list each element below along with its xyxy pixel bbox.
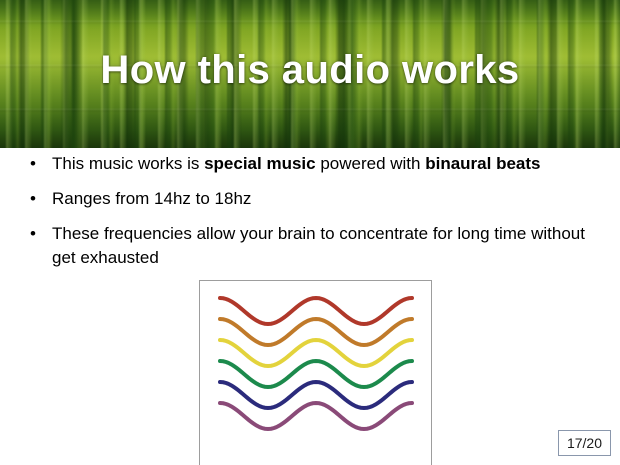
bullet-marker-icon: •: [30, 152, 52, 176]
page-number-badge: 17/20: [558, 430, 611, 456]
bullet-marker-icon: •: [30, 187, 52, 211]
bullet-text: Ranges from 14hz to 18hz: [52, 187, 598, 211]
bullet-item: • This music works is special music powe…: [0, 152, 620, 176]
slide-title: How this audio works: [0, 47, 620, 93]
presentation-slide: How this audio works • This music works …: [0, 0, 620, 465]
bullet-text: This music works is special music powere…: [52, 152, 598, 176]
bullet-text-segment: powered with: [316, 154, 426, 173]
bullet-text: These frequencies allow your brain to co…: [52, 222, 598, 270]
waveform-lines: [220, 298, 412, 429]
wave-purple: [220, 403, 412, 429]
slide-body: • This music works is special music powe…: [0, 152, 620, 281]
bullet-text-segment-bold: special music: [204, 154, 316, 173]
bullet-item: • Ranges from 14hz to 18hz: [0, 187, 620, 211]
bullet-item: • These frequencies allow your brain to …: [0, 222, 620, 270]
waveform-svg: [200, 281, 431, 465]
bullet-text-segment: This music works is: [52, 154, 204, 173]
binaural-waveform-image: [199, 280, 432, 465]
page-number-label: 17/20: [567, 435, 602, 451]
bullet-marker-icon: •: [30, 222, 52, 246]
slide-header-banner: How this audio works: [0, 0, 620, 148]
bullet-text-segment-bold: binaural beats: [425, 154, 540, 173]
